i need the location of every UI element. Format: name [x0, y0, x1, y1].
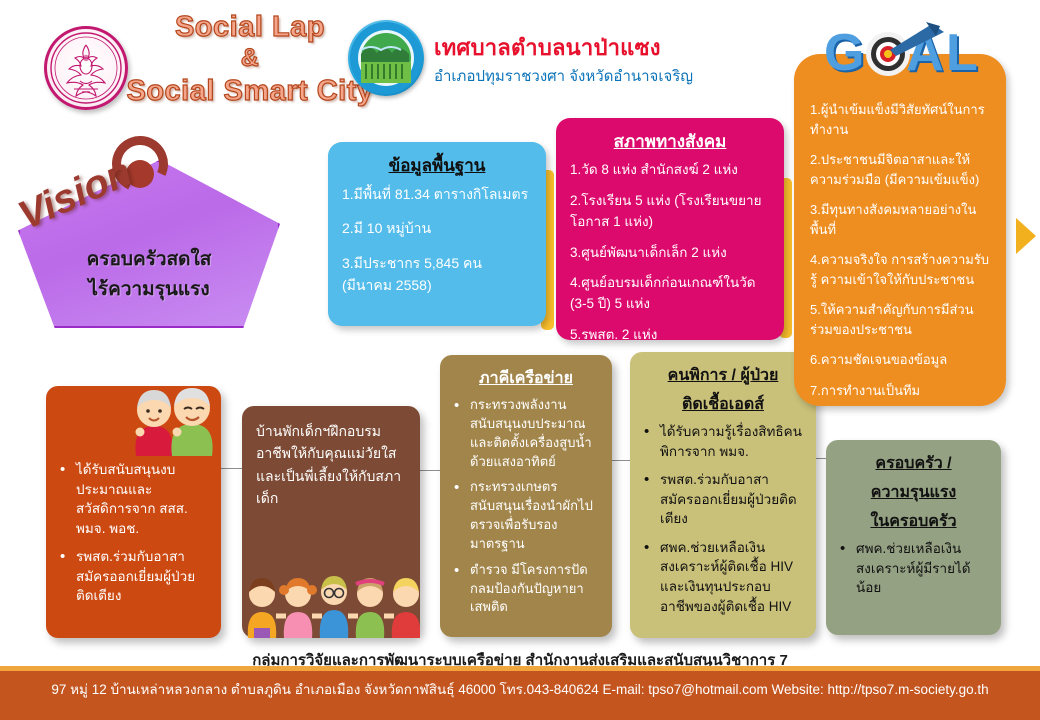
list-item: 4.ศูนย์อบรมเด็กก่อนเกณฑ์ในวัด (3-5 ปี) 5…: [570, 273, 770, 315]
social-conditions-panel: สภาพทางสังคม 1.วัด 8 แห่ง สำนักสงฆ์ 2 แห…: [556, 118, 784, 340]
list-item: 3.มีประชากร 5,845 คน (มีนาคม 2558): [342, 253, 532, 296]
municipality-district: อำเภอปทุมราชวงศา จังหวัดอำนาจเจริญ: [434, 64, 693, 88]
family-violence-title-line-3: ในครอบครัว: [840, 510, 987, 534]
disabled-and-hiv-list: ได้รับความรู้เรื่องสิทธิคนพิการจาก พมจ. …: [644, 422, 802, 616]
list-item: 1.ผู้นำเข้มแข็งมีวิสัยทัศน์ในการทำงาน: [810, 100, 992, 139]
partner-network-list: กระทรวงพลังงาน สนับสนุนงบประมาณและติดตั้…: [454, 396, 598, 617]
list-item: 7.การทำงานเป็นทีม: [810, 381, 992, 401]
list-item: ศพค.ช่วยเหลือเงินสงเคราะห์ผู้มีรายได้น้อ…: [840, 539, 987, 598]
municipality-name: เทศบาลตำบลนาป่าแซง: [434, 30, 661, 65]
children-home-text: บ้านพักเด็กฯฝึกอบรมอาชีพให้กับคุณแม่วัยใ…: [256, 420, 406, 510]
family-violence-title-line-1: ครอบครัว /: [840, 452, 987, 476]
basic-info-list: 1.มีพื้นที่ 81.34 ตารางกิโลเมตร 2.มี 10 …: [342, 184, 532, 297]
list-item: กระทรวงพลังงาน สนับสนุนงบประมาณและติดตั้…: [454, 396, 598, 471]
list-item: ได้รับสนับสนุนงบประมาณและสวัสดิการจาก สส…: [60, 460, 207, 538]
partner-network-card: ภาคีเครือข่าย กระทรวงพลังงาน สนับสนุนงบป…: [440, 355, 612, 637]
partner-network-title: ภาคีเครือข่าย: [454, 367, 598, 391]
list-item: 2.โรงเรียน 5 แห่ง (โรงเรียนขยายโอกาส 1 แ…: [570, 191, 770, 233]
svg-text:L: L: [946, 24, 978, 82]
list-item: ได้รับความรู้เรื่องสิทธิคนพิการจาก พมจ.: [644, 422, 802, 461]
disabled-and-hiv-title-line-2: ติดเชื้อเอดส์: [644, 393, 802, 417]
basic-info-title: ข้อมูลพื้นฐาน: [342, 154, 532, 178]
list-item: ตำรวจ มีโครงการปัดกลมป้องกันปัญหายาเสพติ…: [454, 561, 598, 618]
list-item: 2.ประชาชนมีจิตอาสาและให้ความร่วมมือ (มีค…: [810, 150, 992, 189]
list-item: รพสต.ร่วมกับอาสาสมัครออกเยี่ยมผู้ป่วยติด…: [60, 547, 207, 606]
list-item: 5.ให้ความสำคัญกับการมีส่วนร่วมของประชาชน: [810, 300, 992, 339]
list-item: 6.ความชัดเจนของข้อมูล: [810, 350, 992, 370]
svg-text:G: G: [824, 24, 864, 82]
basic-info-panel: ข้อมูลพื้นฐาน 1.มีพื้นที่ 81.34 ตารางกิโ…: [328, 142, 546, 326]
title-line-1: Social Lap: [110, 10, 390, 44]
social-conditions-title: สภาพทางสังคม: [570, 130, 770, 154]
infographic-canvas: Social Lap & Social Smart City เทศบาลตำบ…: [0, 0, 1040, 720]
arrow-right-icon: [1016, 218, 1036, 254]
list-item: รพสต.ร่วมกับอาสาสมัครออกเยี่ยมผู้ป่วยติด…: [644, 470, 802, 529]
footer-bar-accent: [0, 666, 1040, 671]
social-conditions-list: 1.วัด 8 แห่ง สำนักสงฆ์ 2 แห่ง 2.โรงเรียน…: [570, 160, 770, 340]
goal-logo-icon: G G A A L L: [822, 22, 1002, 84]
vision-statement-pentagon: ครอบครัวสดใส ไร้ความรุนแรง: [18, 160, 280, 328]
goal-list: 1.ผู้นำเข้มแข็งมีวิสัยทัศน์ในการทำงาน 2.…: [810, 100, 992, 406]
list-item: 5.รพสต. 2 แห่ง: [570, 325, 770, 340]
list-item: กระทรวงเกษตร สนับสนุนเรื่องนำผักไปตรวจเพ…: [454, 478, 598, 553]
disabled-and-hiv-title-line-1: คนพิการ / ผู้ป่วย: [644, 364, 802, 388]
municipality-emblem-icon: [348, 20, 424, 96]
children-holding-hands-illustration-icon: [244, 550, 420, 638]
list-item: 3.ศูนย์พัฒนาเด็กเล็ก 2 แห่ง: [570, 243, 770, 264]
list-item: ศพค.ช่วยเหลือเงินสงเคราะห์ผู้ติดเชื้อ HI…: [644, 538, 802, 616]
list-item: 4.ความจริงใจ การสร้างความรับรู้ ความเข้า…: [810, 250, 992, 289]
disabled-and-hiv-card: คนพิการ / ผู้ป่วย ติดเชื้อเอดส์ ได้รับคว…: [630, 352, 816, 638]
elderly-support-list: ได้รับสนับสนุนงบประมาณและสวัสดิการจาก สส…: [60, 460, 207, 606]
list-item: 2.มี 10 หมู่บ้าน: [342, 218, 532, 240]
elderly-couple-illustration-icon: [116, 382, 226, 454]
vision-statement-line-1: ครอบครัวสดใส: [87, 245, 212, 274]
family-violence-title-line-2: ความรุนแรง: [840, 481, 987, 505]
list-item: 3.มีทุนทางสังคมหลายอย่างในพื้นที่: [810, 200, 992, 239]
list-item: 1.มีพื้นที่ 81.34 ตารางกิโลเมตร: [342, 184, 532, 206]
family-violence-list: ศพค.ช่วยเหลือเงินสงเคราะห์ผู้มีรายได้น้อ…: [840, 539, 987, 598]
list-item: 1.วัด 8 แห่ง สำนักสงฆ์ 2 แห่ง: [570, 160, 770, 181]
footer-address: 97 หมู่ 12 บ้านเหล่าหลวงกลาง ตำบลภูดิน อ…: [0, 678, 1040, 700]
title-line-2: Social Smart City: [110, 74, 390, 108]
goal-panel: 1.ผู้นำเข้มแข็งมีวิสัยทัศน์ในการทำงาน 2.…: [794, 54, 1006, 406]
family-violence-card: ครอบครัว / ความรุนแรง ในครอบครัว ศพค.ช่ว…: [826, 440, 1001, 635]
vision-statement-line-2: ไร้ความรุนแรง: [88, 275, 209, 304]
